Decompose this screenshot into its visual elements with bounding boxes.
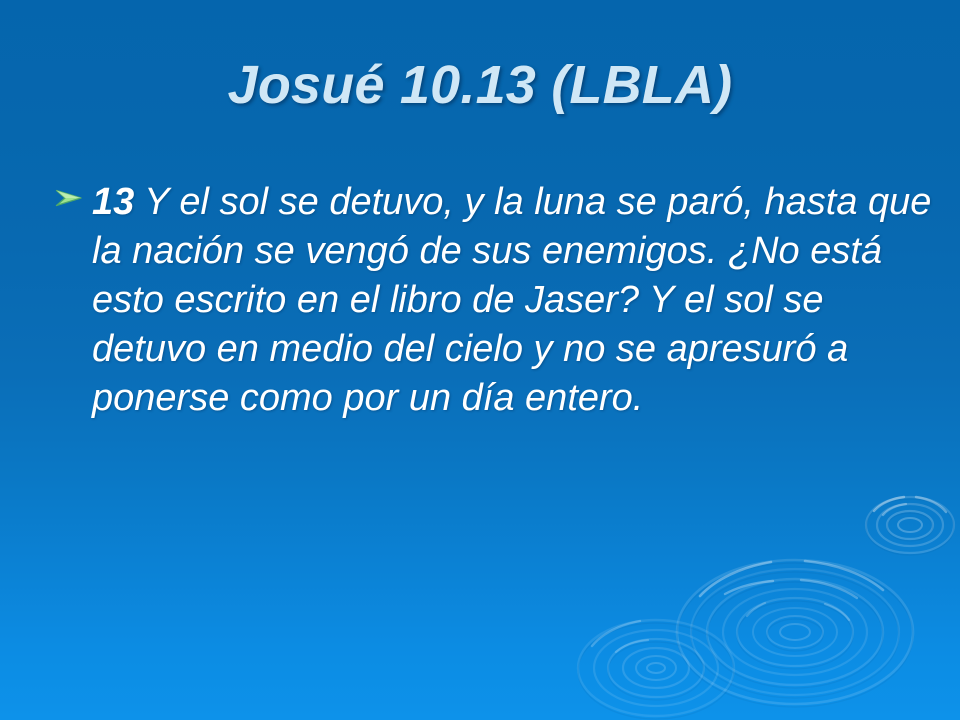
slide-canvas: Josué 10.13 (LBLA) 13 Y el sol se detuvo… [0, 0, 960, 720]
small-ripple-top-right [866, 497, 954, 555]
large-ripple [677, 560, 913, 707]
bullet-list-item: 13 Y el sol se detuvo, y la luna se paró… [54, 178, 940, 423]
slide-title: Josué 10.13 (LBLA) [0, 56, 960, 114]
verse-number: 13 [92, 181, 134, 223]
slide-body: 13 Y el sol se detuvo, y la luna se paró… [54, 178, 940, 423]
verse-body: Y el sol se detuvo, y la luna se paró, h… [92, 181, 931, 419]
green-arrow-bullet-icon [54, 185, 84, 211]
partial-ripple-bottom-left [578, 620, 734, 719]
verse-text: 13 Y el sol se detuvo, y la luna se paró… [92, 178, 940, 423]
